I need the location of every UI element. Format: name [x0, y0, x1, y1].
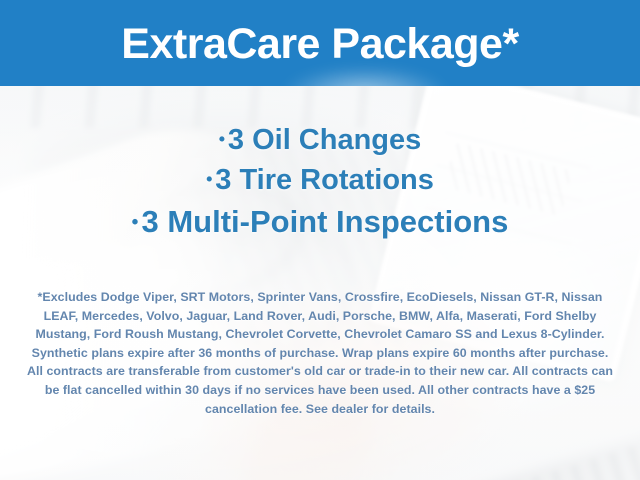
- bullet-dot-icon: •: [219, 129, 225, 149]
- bullet-dot-icon: •: [132, 212, 139, 233]
- benefit-item-oil-changes: •3 Oil Changes: [0, 126, 640, 155]
- extracare-package-banner: ExtraCare Package* •3 Oil Changes •3 Tir…: [0, 0, 640, 480]
- bullet-dot-icon: •: [206, 169, 212, 189]
- page-title: ExtraCare Package*: [0, 0, 640, 86]
- benefit-item-tire-rotations: •3 Tire Rotations: [0, 166, 640, 195]
- benefit-item-multi-point-inspections: •3 Multi-Point Inspections: [0, 206, 640, 237]
- disclaimer-text: *Excludes Dodge Viper, SRT Motors, Sprin…: [26, 288, 614, 418]
- benefit-label: 3 Oil Changes: [228, 124, 421, 156]
- header-bar: ExtraCare Package*: [0, 0, 640, 86]
- benefit-label: 3 Tire Rotations: [215, 164, 434, 196]
- benefits-list: •3 Oil Changes •3 Tire Rotations •3 Mult…: [0, 126, 640, 237]
- benefit-label: 3 Multi-Point Inspections: [141, 204, 508, 239]
